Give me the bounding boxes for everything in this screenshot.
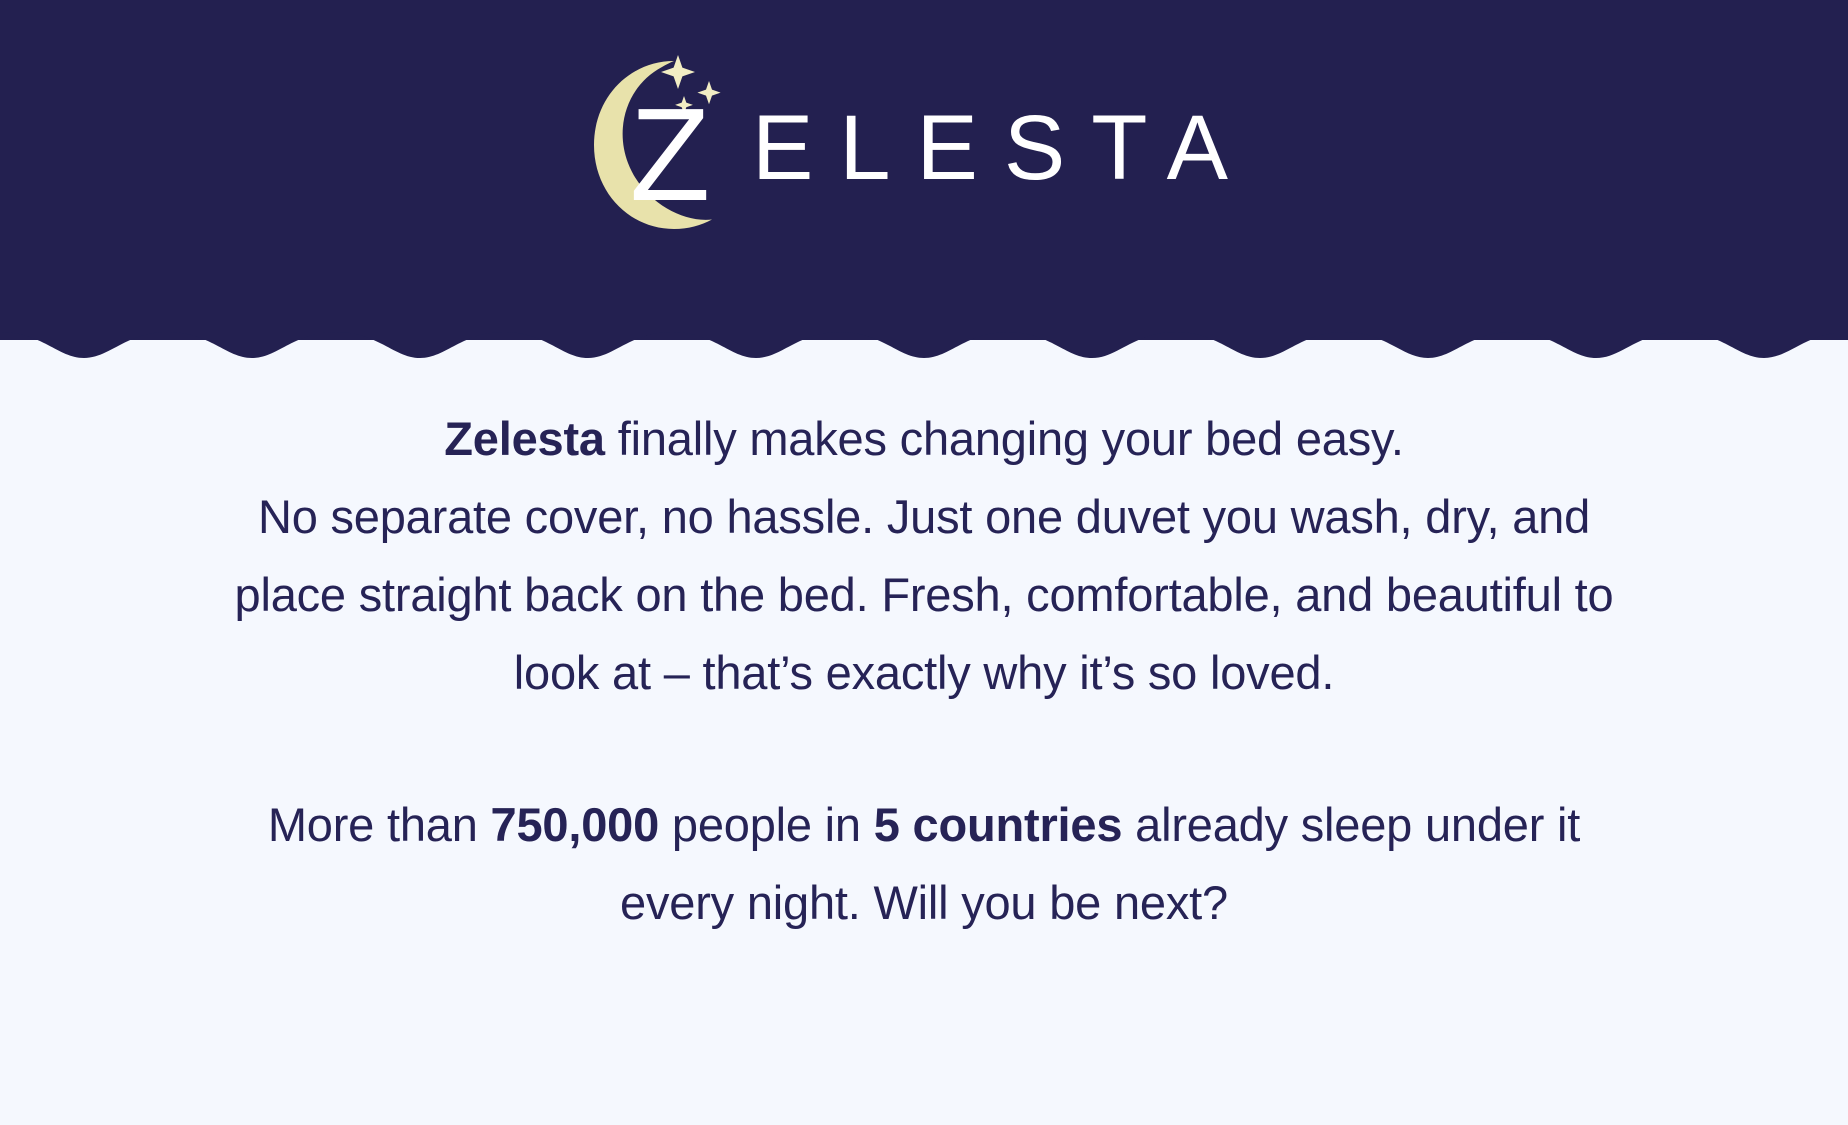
logo-initial-z: Z xyxy=(630,81,711,228)
paragraph-line: No separate cover, no hassle. Just one d… xyxy=(114,478,1734,556)
wave-divider xyxy=(0,296,1848,376)
paragraph-social-proof: More than 750,000 people in 5 countries … xyxy=(114,786,1734,942)
body-section: Zelesta finally makes changing your bed … xyxy=(0,376,1848,1125)
body-text: finally makes changing your bed easy. xyxy=(605,412,1404,465)
body-text: look at – that’s exactly why it’s so lov… xyxy=(514,646,1334,699)
copy-block: Zelesta finally makes changing your bed … xyxy=(114,400,1734,942)
body-text: No separate cover, no hassle. Just one d… xyxy=(258,490,1590,543)
paragraph-intro: Zelesta finally makes changing your bed … xyxy=(114,400,1734,712)
body-text: More than xyxy=(268,798,491,851)
body-text: every night. Will you be next? xyxy=(620,876,1228,929)
brand-logo-lockup[interactable]: Z ELESTA xyxy=(0,0,1848,290)
emphasis-text: 5 countries xyxy=(874,798,1123,851)
brand-wordmark: ELESTA xyxy=(752,102,1254,194)
emphasis-text: 750,000 xyxy=(491,798,660,851)
body-text: already sleep under it xyxy=(1122,798,1580,851)
body-text: place straight back on the bed. Fresh, c… xyxy=(235,568,1614,621)
paragraph-line: place straight back on the bed. Fresh, c… xyxy=(114,556,1734,634)
paragraph-line: Zelesta finally makes changing your bed … xyxy=(114,400,1734,478)
emphasis-text: Zelesta xyxy=(444,412,605,465)
logo-inner: Z ELESTA xyxy=(578,47,1254,243)
body-text: people in xyxy=(659,798,874,851)
paragraph-line: look at – that’s exactly why it’s so lov… xyxy=(114,634,1734,712)
paragraph-line: More than 750,000 people in 5 countries … xyxy=(114,786,1734,864)
logo-mark: Z xyxy=(578,47,754,243)
paragraph-line: every night. Will you be next? xyxy=(114,864,1734,942)
